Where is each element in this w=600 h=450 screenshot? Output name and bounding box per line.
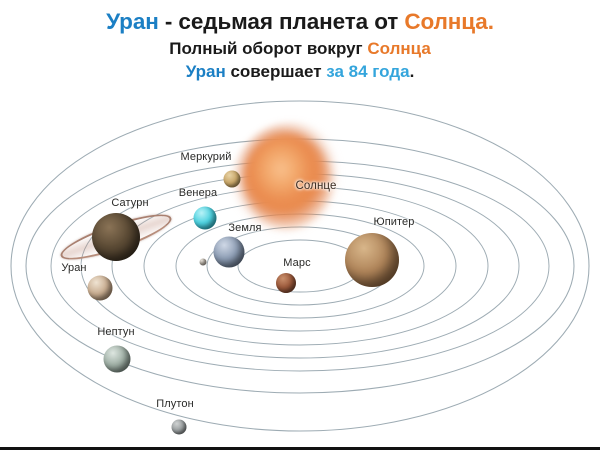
planet-layer: МеркурийВенераЗемляМарсЮпитерСатурнУранН… xyxy=(0,0,600,450)
label-neptune: Нептун xyxy=(97,326,134,338)
planet-mars[interactable] xyxy=(276,273,296,293)
saturn-assembly[interactable] xyxy=(116,237,117,238)
planet-mercury[interactable] xyxy=(224,171,241,188)
planet-moon[interactable] xyxy=(200,259,207,266)
label-venus: Венера xyxy=(179,187,217,199)
label-sun: Солнце xyxy=(296,180,337,192)
planet-venus[interactable] xyxy=(194,207,217,230)
planet-jupiter[interactable] xyxy=(345,233,399,287)
label-earth: Земля xyxy=(228,222,261,234)
label-pluto: Плутон xyxy=(156,398,194,410)
label-saturn: Сатурн xyxy=(111,197,148,209)
label-jupiter: Юпитер xyxy=(374,216,415,228)
label-uranus: Уран xyxy=(61,262,86,274)
label-mars: Марс xyxy=(283,257,310,269)
planet-pluto[interactable] xyxy=(172,420,187,435)
planet-uranus[interactable] xyxy=(88,276,113,301)
slide-canvas: Уран - седьмая планета от Солнца. Полный… xyxy=(0,0,600,450)
planet-earth[interactable] xyxy=(214,237,245,268)
label-mercury: Меркурий xyxy=(180,151,231,163)
saturn-sphere xyxy=(92,213,140,261)
planet-neptune[interactable] xyxy=(104,346,131,373)
